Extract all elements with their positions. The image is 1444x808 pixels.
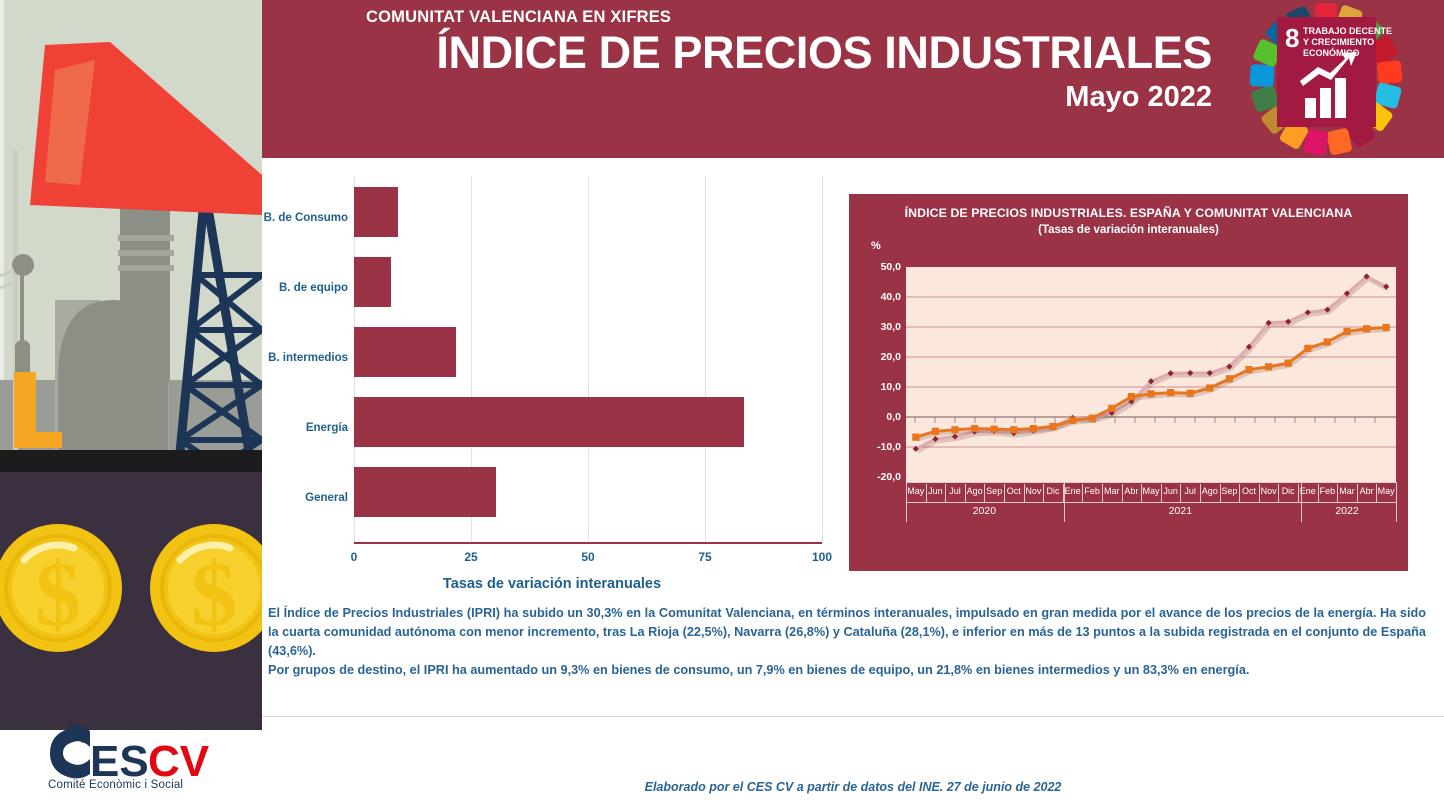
data-point [1167,389,1174,396]
sdg-badge-svg: 8 TRABAJO DECENTE Y CRECIMIENTO ECONÓMIC… [1239,0,1414,158]
xtick-25: 25 [464,550,477,564]
month-separator [1024,484,1025,502]
sdg-number: 8 [1285,23,1299,53]
ytick-m10: -10,0 [861,441,901,453]
month-label: Jun [1163,486,1178,496]
data-point [1343,328,1350,335]
data-point [1187,390,1194,397]
month-label: Oct [1007,486,1021,496]
month-separator [1141,484,1142,502]
month-separator [1337,484,1338,502]
month-separator [1082,484,1083,502]
data-point [951,426,958,433]
month-label: Jul [949,486,961,496]
month-label: Ene [1300,486,1316,496]
month-separator [945,484,946,502]
month-label: May [907,486,924,496]
month-label: Dic [1047,486,1060,496]
ytick-10: 10,0 [861,381,901,393]
month-label: Abr [1360,486,1374,496]
ytick-40: 40,0 [861,291,901,303]
month-label: Jun [928,486,943,496]
page-title: ÍNDICE DE PRECIOS INDUSTRIALES [366,29,1212,77]
month-label: Nov [1261,486,1277,496]
line-chart-ylabel: % [871,240,881,252]
bar-chart-horizontal: B. de Consumo B. de equipo B. intermedio… [262,170,842,595]
header-text-block: COMUNITAT VALENCIANA EN XIFRES ÍNDICE DE… [262,0,1212,114]
month-label: Dic [1282,486,1295,496]
bar-consumo [354,187,398,237]
data-point [1089,415,1096,422]
data-point [1383,324,1390,331]
month-label: Nov [1025,486,1041,496]
bar-chart-baseline [354,542,822,544]
month-label: Ago [967,486,983,496]
summary-paragraph-1: El Índice de Precios Industriales (IPRI)… [268,604,1426,661]
svg-text:$: $ [35,543,81,645]
header-kicker: COMUNITAT VALENCIANA EN XIFRES [366,8,1212,27]
data-point [1285,360,1292,367]
month-separator [1357,484,1358,502]
month-separator [1063,484,1064,502]
data-point [1128,393,1135,400]
page-subtitle: Mayo 2022 [366,81,1212,114]
line-chart-plot-area [906,267,1396,482]
sdg-goal-8-badge: 8 TRABAJO DECENTE Y CRECIMIENTO ECONÓMIC… [1239,0,1414,158]
year-label: 2022 [1335,505,1358,517]
month-separator [1239,484,1240,502]
data-point [1010,426,1017,433]
data-point [1108,405,1115,412]
ytick-20: 20,0 [861,351,901,363]
ytick-30: 30,0 [861,321,901,333]
xtick-100: 100 [812,550,832,564]
month-separator [1376,484,1377,502]
bar-label-general: General [305,492,348,504]
svg-text:$: $ [191,543,237,645]
axis-sep [1396,482,1397,522]
infographic-page: $ $ COMUNITAT VALENCIANA EN XIFRES ÍNDIC… [0,0,1444,808]
coin-icon: $ [0,524,122,652]
month-label: Sep [1221,486,1237,496]
data-point [1304,345,1311,352]
data-point [1049,423,1056,430]
month-separator [926,484,927,502]
data-point [1363,325,1370,332]
ytick-m20: -20,0 [861,471,901,483]
gridline [588,176,589,542]
month-label: May [1142,486,1159,496]
data-point [971,425,978,432]
data-point [932,428,939,435]
line-chart-subtitle: (Tasas de variación interanuales) [849,224,1408,236]
data-point [1069,417,1076,424]
month-separator [1102,484,1103,502]
gridline [705,176,706,542]
data-point [1030,425,1037,432]
data-point [1147,390,1154,397]
month-label: Jul [1184,486,1196,496]
sdg-line2: Y CRECIMIENTO [1303,37,1374,47]
illustration-svg: $ $ [0,0,262,730]
bar-label-consumo: B. de Consumo [264,212,348,224]
month-label: Ene [1065,486,1081,496]
bar-label-equipo: B. de equipo [279,282,348,294]
page-header: COMUNITAT VALENCIANA EN XIFRES ÍNDICE DE… [262,0,1444,158]
month-separator [1298,484,1299,502]
oil-pumpjack-illustration: $ $ [0,0,262,730]
bar-label-intermedios: B. intermedios [268,352,348,364]
data-point [912,434,919,441]
month-label: Feb [1084,486,1100,496]
month-label: Oct [1242,486,1256,496]
month-label: Abr [1124,486,1138,496]
month-separator [1200,484,1201,502]
month-separator [1122,484,1123,502]
month-separator [984,484,985,502]
cescv-logo-subtitle: Comité Econòmic i Social [48,779,183,791]
month-label: Mar [1339,486,1355,496]
bar-chart-axis-title: Tasas de variación interanuales [262,576,842,592]
month-separator [1161,484,1162,502]
month-label: Sep [986,486,1002,496]
line-chart-title: ÍNDICE DE PRECIOS INDUSTRIALES. ESPAÑA Y… [849,206,1408,220]
ytick-0: 0,0 [861,411,901,423]
month-separator [1220,484,1221,502]
xtick-0: 0 [351,550,358,564]
bar-intermedios [354,327,456,377]
sdg-line1: TRABAJO DECENTE [1303,26,1392,36]
data-point [1265,363,1272,370]
bar-general [354,467,496,517]
summary-text: El Índice de Precios Industriales (IPRI)… [268,604,1426,680]
month-separator [1318,484,1319,502]
month-separator [1259,484,1260,502]
bar-equipo [354,257,391,307]
month-label: May [1378,486,1395,496]
xtick-75: 75 [698,550,711,564]
data-point [1206,384,1213,391]
bar-label-energia: Energía [306,422,348,434]
month-separator [965,484,966,502]
axis-top-rule [906,482,1396,483]
month-separator [1278,484,1279,502]
year-label: 2021 [1169,505,1192,517]
month-label: Mar [1104,486,1120,496]
summary-paragraph-2: Por grupos de destino, el IPRI ha aument… [268,661,1426,680]
ytick-50: 50,0 [861,261,901,273]
footer-note: Elaborado por el CES CV a partir de dato… [262,780,1444,794]
xtick-50: 50 [581,550,594,564]
footer-divider [262,716,1444,717]
data-point [1324,338,1331,345]
year-label: 2020 [973,505,996,517]
month-separator [1004,484,1005,502]
axis-mid-rule [906,502,1396,503]
month-separator [1043,484,1044,502]
month-separator [1180,484,1181,502]
bar-energia [354,397,744,447]
gridline [822,176,823,542]
plot-background [906,267,1396,482]
month-label: Ago [1202,486,1218,496]
month-label: Feb [1320,486,1336,496]
data-point [1245,366,1252,373]
data-point [991,426,998,433]
data-point [1226,375,1233,382]
line-chart-panel: ÍNDICE DE PRECIOS INDUSTRIALES. ESPAÑA Y… [849,194,1408,571]
